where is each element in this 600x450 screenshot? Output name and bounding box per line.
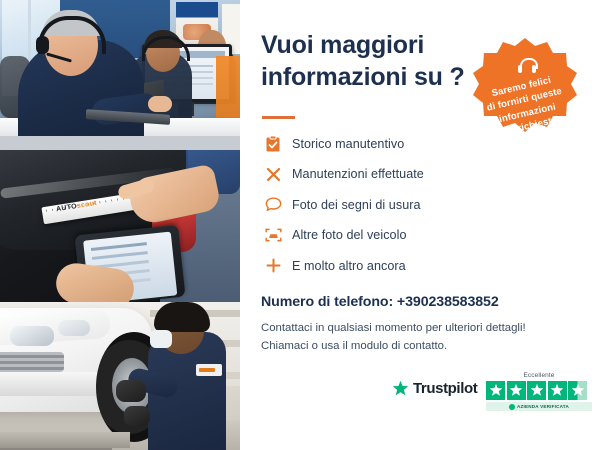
star-rating <box>486 381 592 400</box>
feature-item-altre-foto-veicolo[interactable]: Altre foto del veicolo <box>262 222 482 249</box>
speech-bubble-icon <box>262 196 284 214</box>
heading-line-2: informazioni su ? <box>261 62 471 94</box>
feature-list: Storico manutentivo Manutenzioni effettu… <box>262 130 482 283</box>
star-4 <box>548 381 567 400</box>
contact-line-2: Chiamaci o usa il modulo di contatto. <box>261 337 561 355</box>
feature-label: E molto altro ancora <box>292 259 406 273</box>
trustpilot-wordmark: Trustpilot <box>413 380 477 397</box>
photo-car-body-inspection-with-tablet: AUTOscout <box>0 150 240 302</box>
headset-earcup-left <box>518 65 522 73</box>
feature-item-molto-altro-ancora[interactable]: E molto altro ancora <box>262 252 482 279</box>
rating-label: Eccellente <box>486 372 592 379</box>
heading-line-1: Vuoi maggiori <box>261 30 471 62</box>
desk-edge <box>0 136 240 150</box>
promo-banner: AUTOscout <box>0 0 600 450</box>
contact-line-1: Contattaci in qualsiasi momento per ulte… <box>261 319 561 337</box>
mechanic-glove-upper <box>116 380 146 402</box>
headset-earcup-right <box>532 65 536 73</box>
tools-cross-icon <box>262 165 284 183</box>
verified-label: AZIENDA VERIFICATA <box>517 404 569 409</box>
info-panel: Vuoi maggiori informazioni su ? Saremo f… <box>240 0 600 450</box>
trustpilot-star-icon <box>392 380 409 397</box>
photo-mechanic-checking-wheel-on-lift <box>0 302 240 450</box>
star-2 <box>507 381 526 400</box>
headset-earcup <box>36 36 49 54</box>
star-1 <box>486 381 505 400</box>
star-3 <box>527 381 546 400</box>
front-bumper <box>0 372 104 396</box>
clipboard-check-icon <box>262 135 284 153</box>
headset-icon <box>518 58 536 74</box>
agent-hand <box>148 96 172 112</box>
callout-badge: Saremo felici di fornirti queste informa… <box>471 36 579 144</box>
trustpilot-widget[interactable]: Trustpilot Eccellente AZIENDA VERIFICATA <box>392 372 592 418</box>
trustpilot-logo: Trustpilot <box>392 380 477 397</box>
photo-column: AUTOscout <box>0 0 240 450</box>
photo-call-center-agents-with-headsets <box>0 0 240 150</box>
plus-icon <box>262 257 284 275</box>
verified-business-chip: AZIENDA VERIFICATA <box>486 402 592 411</box>
star-5-half <box>568 381 587 400</box>
car-lift-platform <box>0 432 130 448</box>
feature-item-foto-segni-usura[interactable]: Foto dei segni di usura <box>262 191 482 218</box>
trustpilot-rating: Eccellente AZIENDA VERIFICATA <box>486 372 592 411</box>
mechanic-face-mask <box>150 330 172 348</box>
heading-divider <box>262 116 295 119</box>
feature-label: Storico manutentivo <box>292 137 404 151</box>
headlight <box>10 326 54 346</box>
feature-item-manutenzioni-effettuate[interactable]: Manutenzioni effettuate <box>262 161 482 188</box>
panel-heading: Vuoi maggiori informazioni su ? <box>261 30 471 93</box>
uniform-logo-patch <box>196 364 222 376</box>
contact-text: Contattaci in qualsiasi momento per ulte… <box>261 319 561 356</box>
phone-number[interactable]: Numero di telefono: +390238583852 <box>261 294 499 310</box>
mechanic-glove-lower <box>124 406 150 426</box>
verified-check-icon <box>509 404 515 410</box>
feature-label: Foto dei segni di usura <box>292 198 421 212</box>
scan-car-icon <box>262 226 284 244</box>
headlight-secondary <box>58 320 90 336</box>
front-grille <box>0 352 64 372</box>
feature-label: Manutenzioni effettuate <box>292 167 424 181</box>
feature-label: Altre foto del veicolo <box>292 228 407 242</box>
feature-item-storico-manutentivo[interactable]: Storico manutentivo <box>262 130 482 157</box>
mechanic-hair <box>154 302 210 332</box>
